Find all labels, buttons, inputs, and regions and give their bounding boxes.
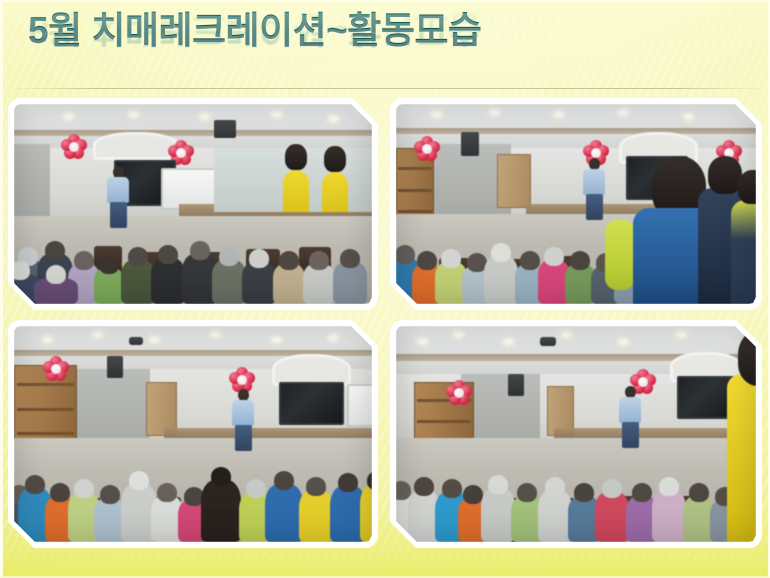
- presentation-slide: 5월 치매레크레이션~활동모습 5월 치매레크레이션~활동모습: [0, 0, 770, 578]
- photo-top-right: [396, 104, 756, 304]
- photo-frame-top-left[interactable]: [8, 98, 378, 310]
- photo-bottom-right: [396, 326, 756, 542]
- photo-frame-top-right[interactable]: [390, 98, 762, 310]
- photo-top-left: [14, 104, 372, 304]
- photo-frame-bottom-left[interactable]: [8, 320, 378, 548]
- photo-bottom-left: [14, 326, 372, 542]
- photo-frame-bottom-right[interactable]: [390, 320, 762, 548]
- slide-title-block: 5월 치매레크레이션~활동모습 5월 치매레크레이션~활동모습: [28, 8, 728, 88]
- page-title-reflection: 5월 치매레크레이션~활동모습: [28, 5, 728, 51]
- title-divider-rule: [6, 88, 766, 89]
